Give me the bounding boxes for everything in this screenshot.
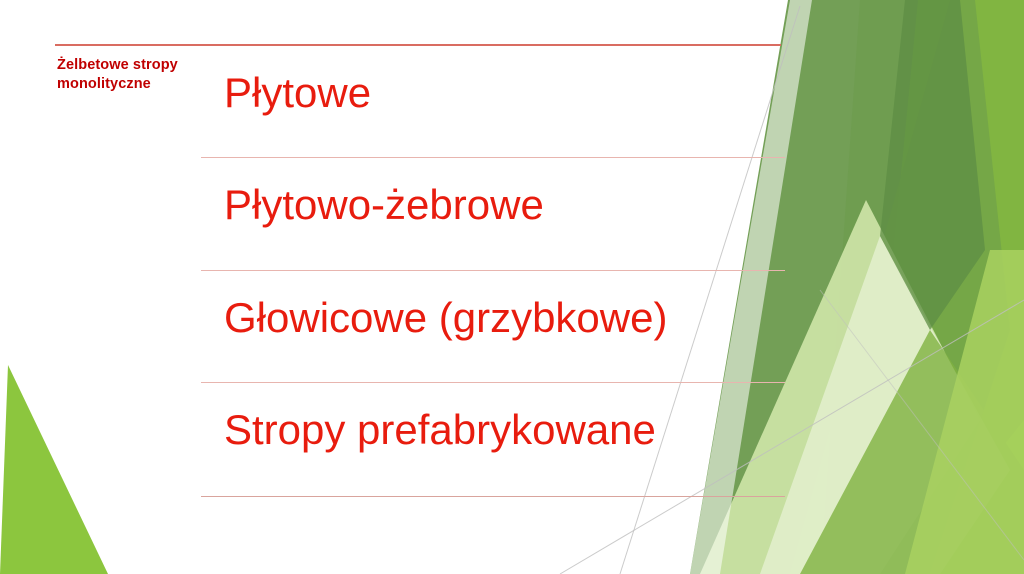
list-items: Płytowe Płytowo-żebrowe Głowicowe (grzyb… [224,0,924,574]
list-item: Płytowe [224,72,371,114]
list-item: Głowicowe (grzybkowe) [224,297,667,339]
slide: Żelbetowe stropy monolityczne Płytowe Pł… [0,0,1024,574]
list-item: Płytowo-żebrowe [224,184,544,226]
list-item: Stropy prefabrykowane [224,409,656,451]
left-green-wedge [0,365,108,574]
side-label: Żelbetowe stropy monolityczne [57,56,197,95]
